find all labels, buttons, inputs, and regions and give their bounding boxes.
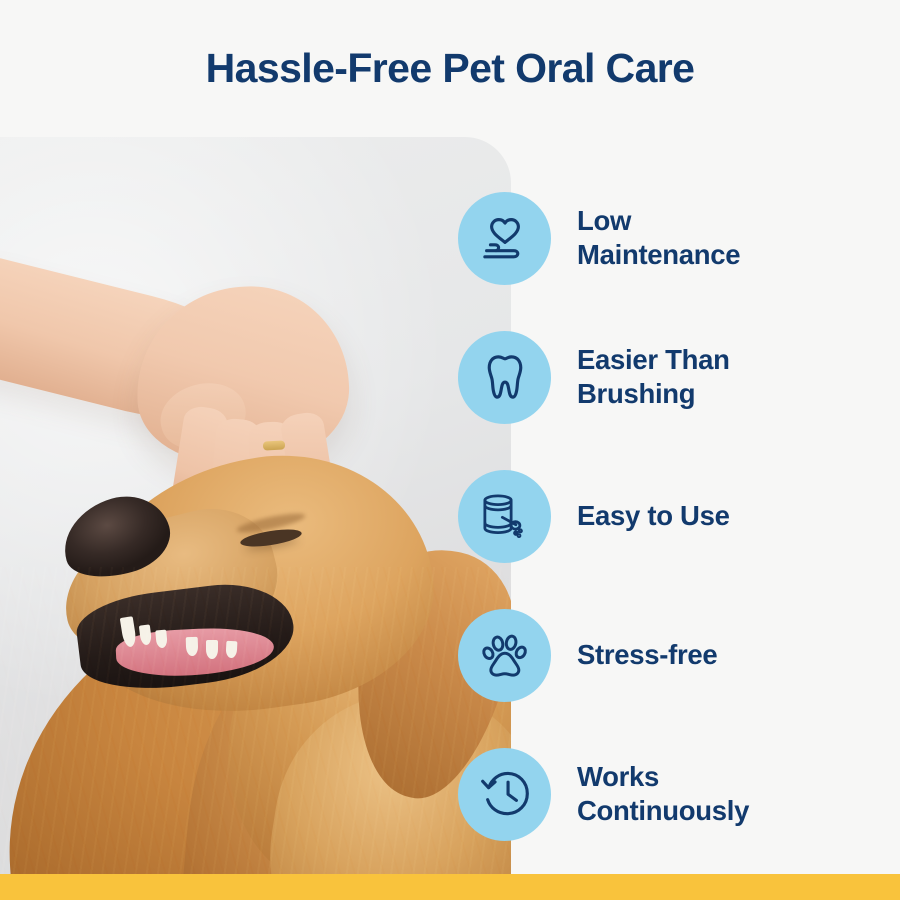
feature-icon-badge	[458, 470, 551, 563]
feature-item-works-continuously: Works Continuously	[458, 741, 749, 847]
finger-ring	[263, 440, 285, 450]
paw-print-icon	[477, 627, 533, 683]
feature-icon-badge	[458, 331, 551, 424]
feature-item-easy-to-use: Easy to Use	[458, 463, 730, 569]
feature-icon-badge	[458, 192, 551, 285]
dog-tooth	[206, 640, 218, 659]
clock-refresh-icon	[477, 766, 533, 822]
jar-with-scoop-icon	[477, 488, 533, 544]
feature-label: Works Continuously	[577, 760, 749, 827]
tooth-icon	[477, 349, 533, 405]
feature-label: Stress-free	[577, 638, 717, 672]
bottom-accent-bar	[0, 874, 900, 900]
feature-icon-badge	[458, 609, 551, 702]
feature-label: Low Maintenance	[577, 204, 740, 271]
hero-photo	[0, 137, 511, 874]
page-title: Hassle-Free Pet Oral Care	[0, 0, 900, 137]
feature-icon-badge	[458, 748, 551, 841]
feature-item-low-maintenance: Low Maintenance	[458, 185, 740, 291]
heart-in-hand-icon	[477, 210, 533, 266]
promo-graphic: Hassle-Free Pet Oral Care	[0, 0, 900, 900]
feature-label: Easier Than Brushing	[577, 343, 730, 410]
feature-item-easier-than-brushing: Easier Than Brushing	[458, 324, 730, 430]
feature-item-stress-free: Stress-free	[458, 602, 717, 708]
feature-label: Easy to Use	[577, 499, 730, 533]
